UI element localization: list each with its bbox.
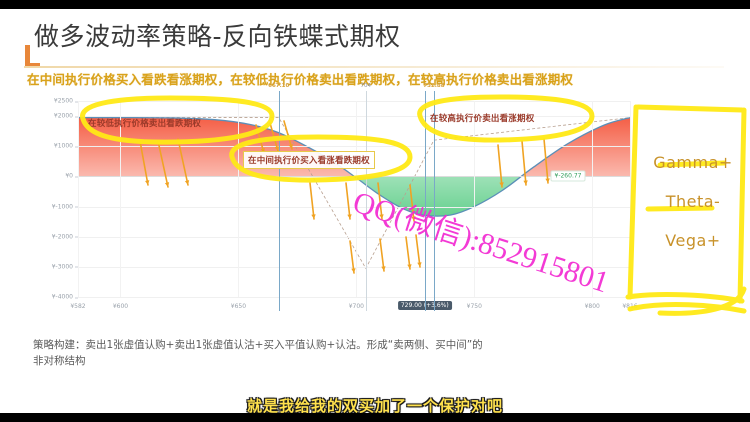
y-axis-tick: ¥2500 — [54, 98, 73, 105]
title-divider — [24, 66, 724, 68]
annotation-arrow — [544, 139, 548, 183]
y-axis-tick: ¥-2000 — [52, 233, 73, 240]
annotation-arrow-head — [545, 178, 549, 183]
slide-stage: 做多波动率策略-反向铁蝶式期权 在中间执行价格买入看跌看涨期权，在较低执行价格卖… — [0, 9, 750, 413]
letterbox-top — [0, 0, 750, 9]
y-axis-tick: ¥-1000 — [52, 203, 73, 210]
y-axis-tick: ¥0 — [65, 173, 73, 180]
greek-theta: Theta- — [666, 182, 721, 221]
strike-label: 732.88 — [423, 83, 444, 89]
footer-line-1: 策略构建：卖出1张虚值认购+卖出1张虚值认沽+买入平值认购+认沽。形成“卖两侧、… — [33, 337, 553, 353]
annotation-arrow — [522, 141, 526, 185]
pl-value-badge: ¥-260.77 — [551, 171, 586, 182]
footer-line-2: 非对称结构 — [33, 353, 553, 369]
x-axis-tick: ¥750 — [467, 303, 482, 310]
x-axis-tick: ¥800 — [585, 303, 600, 310]
video-caption: 就是我给我的双买加了一个保护对吧 — [0, 395, 750, 413]
greek-vega: Vega+ — [665, 221, 720, 260]
y-axis-tick: ¥-3000 — [52, 263, 73, 270]
y-axis-tick: ¥1000 — [54, 143, 73, 150]
payoff-chart: ¥2500¥2000¥1000¥0¥-1000¥-2000¥-3000¥-400… — [24, 95, 642, 323]
strike-label: 667.10 — [268, 83, 289, 89]
slide-subtitle: 在中间执行价格买入看跌看涨期权，在较低执行价格卖出看跌期权，在较高执行价格卖出看… — [27, 71, 727, 88]
annotation-arrow — [140, 141, 148, 185]
annotation-sell-lower-put: 在较低执行价格卖出看跌期权 — [88, 117, 201, 129]
strike-label: 704 — [361, 83, 372, 89]
letterbox-bottom — [0, 413, 750, 422]
annotation-arrow — [178, 139, 188, 185]
page-title: 做多波动率策略-反向铁蝶式期权 — [34, 21, 401, 53]
greek-gamma: Gamma+ — [653, 143, 733, 182]
footer-text: 策略构建：卖出1张虚值认购+卖出1张虚值认沽+买入平值认购+认沽。形成“卖两侧、… — [33, 337, 553, 369]
y-axis-tick: ¥-4000 — [52, 294, 73, 301]
annotation-arrow — [310, 183, 314, 219]
annotation-arrow — [380, 239, 384, 271]
x-axis-tick: ¥600 — [113, 303, 128, 310]
x-axis-tick: ¥650 — [231, 303, 246, 310]
gridline-x — [630, 101, 631, 297]
annotation-arrow — [350, 241, 354, 273]
greeks-panel: Gamma+ Theta- Vega+ — [641, 109, 745, 294]
annotation-arrow-head — [499, 182, 503, 187]
annotation-buy-middle-straddle: 在中间执行价买入看涨看跌期权 — [243, 151, 375, 169]
annotation-arrow — [158, 141, 168, 187]
y-axis-tick: ¥2000 — [54, 113, 73, 120]
annotation-arrow — [406, 237, 410, 269]
x-axis-tick: ¥700 — [349, 303, 364, 310]
gridline-y — [78, 297, 630, 298]
annotation-arrow — [498, 145, 502, 187]
annotation-arrow-head — [523, 180, 527, 185]
annotation-sell-higher-call: 在较高执行价卖出看涨期权 — [430, 112, 534, 124]
x-axis-tick: ¥816 — [622, 303, 637, 310]
x-axis-tick: ¥582 — [70, 303, 85, 310]
